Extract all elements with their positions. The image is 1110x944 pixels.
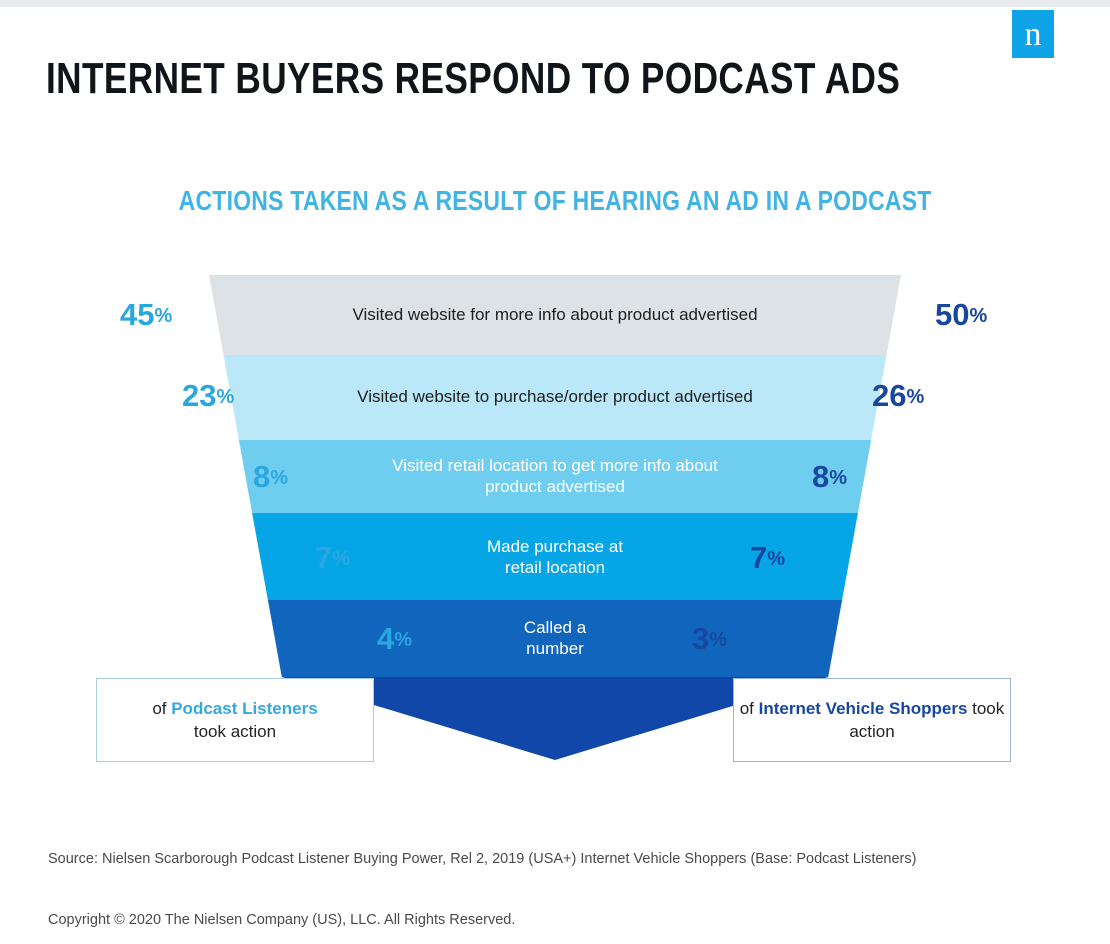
pct-right-2: 26% — [872, 378, 924, 414]
legend-right-emphasis: Internet Vehicle Shoppers — [759, 699, 968, 718]
pct-right-5-value: 3 — [692, 621, 709, 656]
pct-right-3-symbol: % — [829, 467, 847, 489]
infographic-page: n INTERNET BUYERS RESPOND TO PODCAST ADS… — [0, 0, 1110, 944]
pct-left-3: 8% — [253, 459, 288, 495]
funnel-band-5-label-line2: number — [435, 638, 675, 659]
funnel-band-5-label: Called a number — [435, 617, 675, 659]
source-note: Source: Nielsen Scarborough Podcast List… — [48, 851, 1048, 867]
legend-left-prefix: of — [152, 699, 171, 718]
pct-right-1-symbol: % — [969, 305, 987, 327]
pct-left-4-symbol: % — [332, 548, 350, 570]
funnel-band-4-label: Made purchase at retail location — [395, 536, 715, 578]
pct-left-5: 4% — [377, 621, 412, 657]
pct-left-5-symbol: % — [394, 629, 412, 651]
legend-left-suffix: took action — [194, 722, 276, 741]
pct-right-4: 7% — [750, 540, 785, 576]
pct-left-4-value: 7 — [315, 540, 332, 575]
pct-right-4-symbol: % — [767, 548, 785, 570]
legend-internet-vehicle-shoppers: of Internet Vehicle Shoppers took action — [733, 678, 1011, 762]
funnel-band-3-label: Visited retail location to get more info… — [345, 455, 765, 497]
pct-right-5: 3% — [692, 621, 727, 657]
pct-right-5-symbol: % — [709, 629, 727, 651]
pct-left-2-symbol: % — [216, 386, 234, 408]
funnel-band-4-label-line1: Made purchase at — [395, 536, 715, 557]
funnel-band-5-label-line1: Called a — [435, 617, 675, 638]
pct-right-3-value: 8 — [812, 459, 829, 494]
funnel-band-2-label-line1: Visited website to purchase/order produc… — [330, 386, 780, 407]
funnel-band-1-label-line1: Visited website for more info about prod… — [330, 304, 780, 325]
pct-left-1-value: 45 — [120, 297, 154, 332]
pct-left-3-symbol: % — [270, 467, 288, 489]
legend-podcast-listeners-text: of Podcast Listeners took action — [152, 697, 317, 743]
pct-left-2-value: 23 — [182, 378, 216, 413]
copyright-note: Copyright © 2020 The Nielsen Company (US… — [48, 912, 1048, 928]
pct-right-1-value: 50 — [935, 297, 969, 332]
legend-podcast-listeners: of Podcast Listeners took action — [96, 678, 374, 762]
legend-internet-vehicle-shoppers-text: of Internet Vehicle Shoppers took action — [734, 697, 1010, 743]
pct-left-2: 23% — [182, 378, 234, 414]
legend-left-emphasis: Podcast Listeners — [171, 699, 317, 718]
pct-right-1: 50% — [935, 297, 987, 333]
funnel-band-3-label-line1: Visited retail location to get more info… — [345, 455, 765, 476]
pct-right-4-value: 7 — [750, 540, 767, 575]
pct-right-2-symbol: % — [906, 386, 924, 408]
funnel-band-3-label-line2: product advertised — [345, 476, 765, 497]
pct-left-4: 7% — [315, 540, 350, 576]
pct-right-3: 8% — [812, 459, 847, 495]
pct-left-3-value: 8 — [253, 459, 270, 494]
funnel-band-1-label: Visited website for more info about prod… — [330, 304, 780, 325]
pct-left-1: 45% — [120, 297, 172, 333]
pct-left-1-symbol: % — [154, 305, 172, 327]
legend-right-prefix: of — [740, 699, 759, 718]
pct-right-2-value: 26 — [872, 378, 906, 413]
funnel-band-2-label: Visited website to purchase/order produc… — [330, 386, 780, 407]
pct-left-5-value: 4 — [377, 621, 394, 656]
funnel-band-4-label-line2: retail location — [395, 557, 715, 578]
funnel-chart: Visited website for more info about prod… — [0, 0, 1110, 944]
